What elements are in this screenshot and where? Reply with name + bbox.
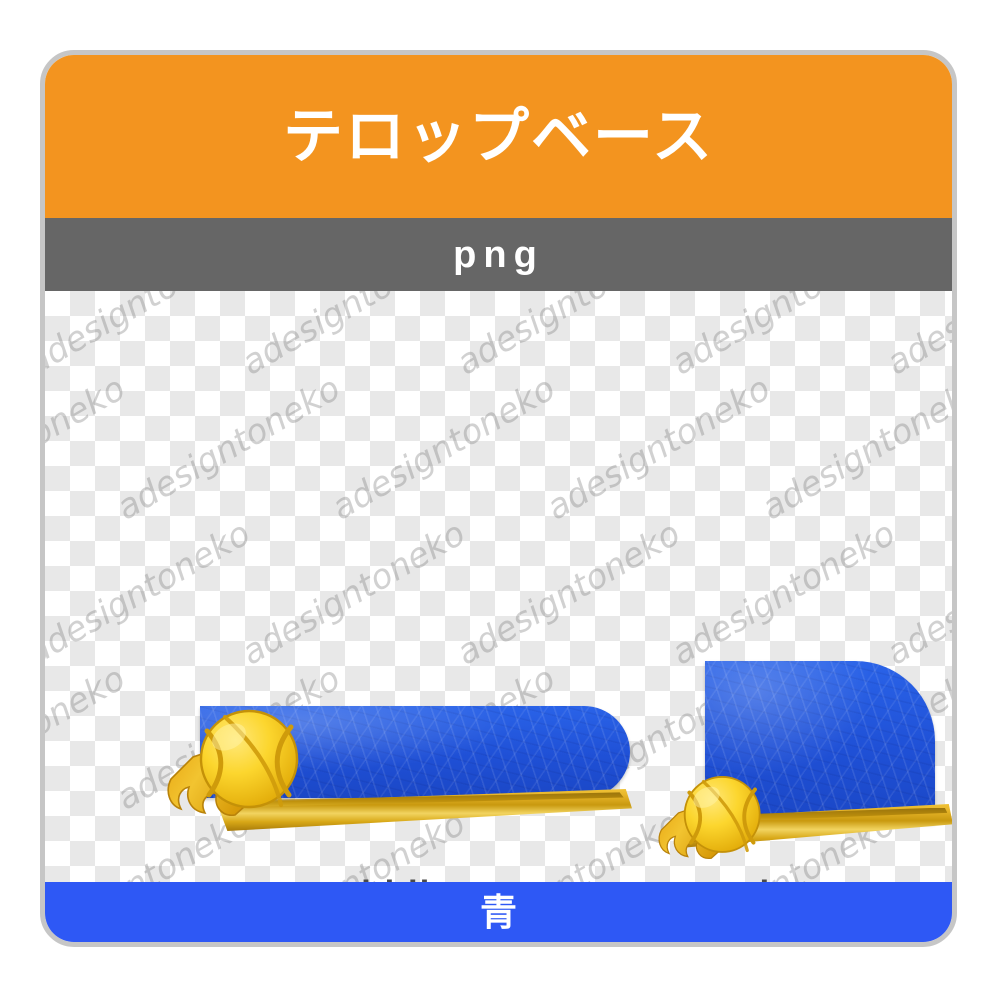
- watermark-text: adesigntoneko: [450, 291, 687, 383]
- card-header: テロップベース: [45, 55, 952, 218]
- watermark-text: adesigntoneko: [110, 368, 347, 528]
- watermark-text: adesigntoneko: [325, 368, 562, 528]
- watermark-text: adesigntoneko: [665, 513, 902, 673]
- screenshot-root: テロップベース png adesigntoneko adesigntoneko …: [0, 0, 1001, 1000]
- format-band: png: [45, 218, 952, 291]
- watermark-text: adesigntoneko: [450, 513, 687, 673]
- watermark-text: adesigntoneko: [235, 291, 472, 383]
- watermark-text: adesigntoneko: [880, 291, 952, 383]
- watermark-text: adesigntoneko: [45, 513, 257, 673]
- watermark-text: adesigntoneko: [45, 291, 257, 383]
- color-label: 青: [480, 894, 517, 931]
- watermark-text: adesigntoneko: [755, 368, 952, 528]
- watermark-text: adesigntoneko: [665, 291, 902, 383]
- preview-canvas: adesigntoneko adesigntoneko adesigntonek…: [45, 291, 952, 892]
- flaming-tennis-ball-icon: [163, 701, 323, 826]
- flaming-tennis-ball-icon: [655, 769, 780, 867]
- product-card: テロップベース png adesigntoneko adesigntoneko …: [40, 50, 957, 947]
- watermark-text: adesigntoneko: [880, 513, 952, 673]
- color-band: 青: [45, 882, 952, 942]
- watermark-text: adesigntoneko: [45, 658, 132, 818]
- format-label: png: [453, 236, 544, 274]
- watermark-text: adesigntoneko: [540, 368, 777, 528]
- watermark-text: adesigntoneko: [45, 368, 132, 528]
- page-title: テロップベース: [283, 107, 714, 167]
- watermark-text: adesigntoneko: [235, 513, 472, 673]
